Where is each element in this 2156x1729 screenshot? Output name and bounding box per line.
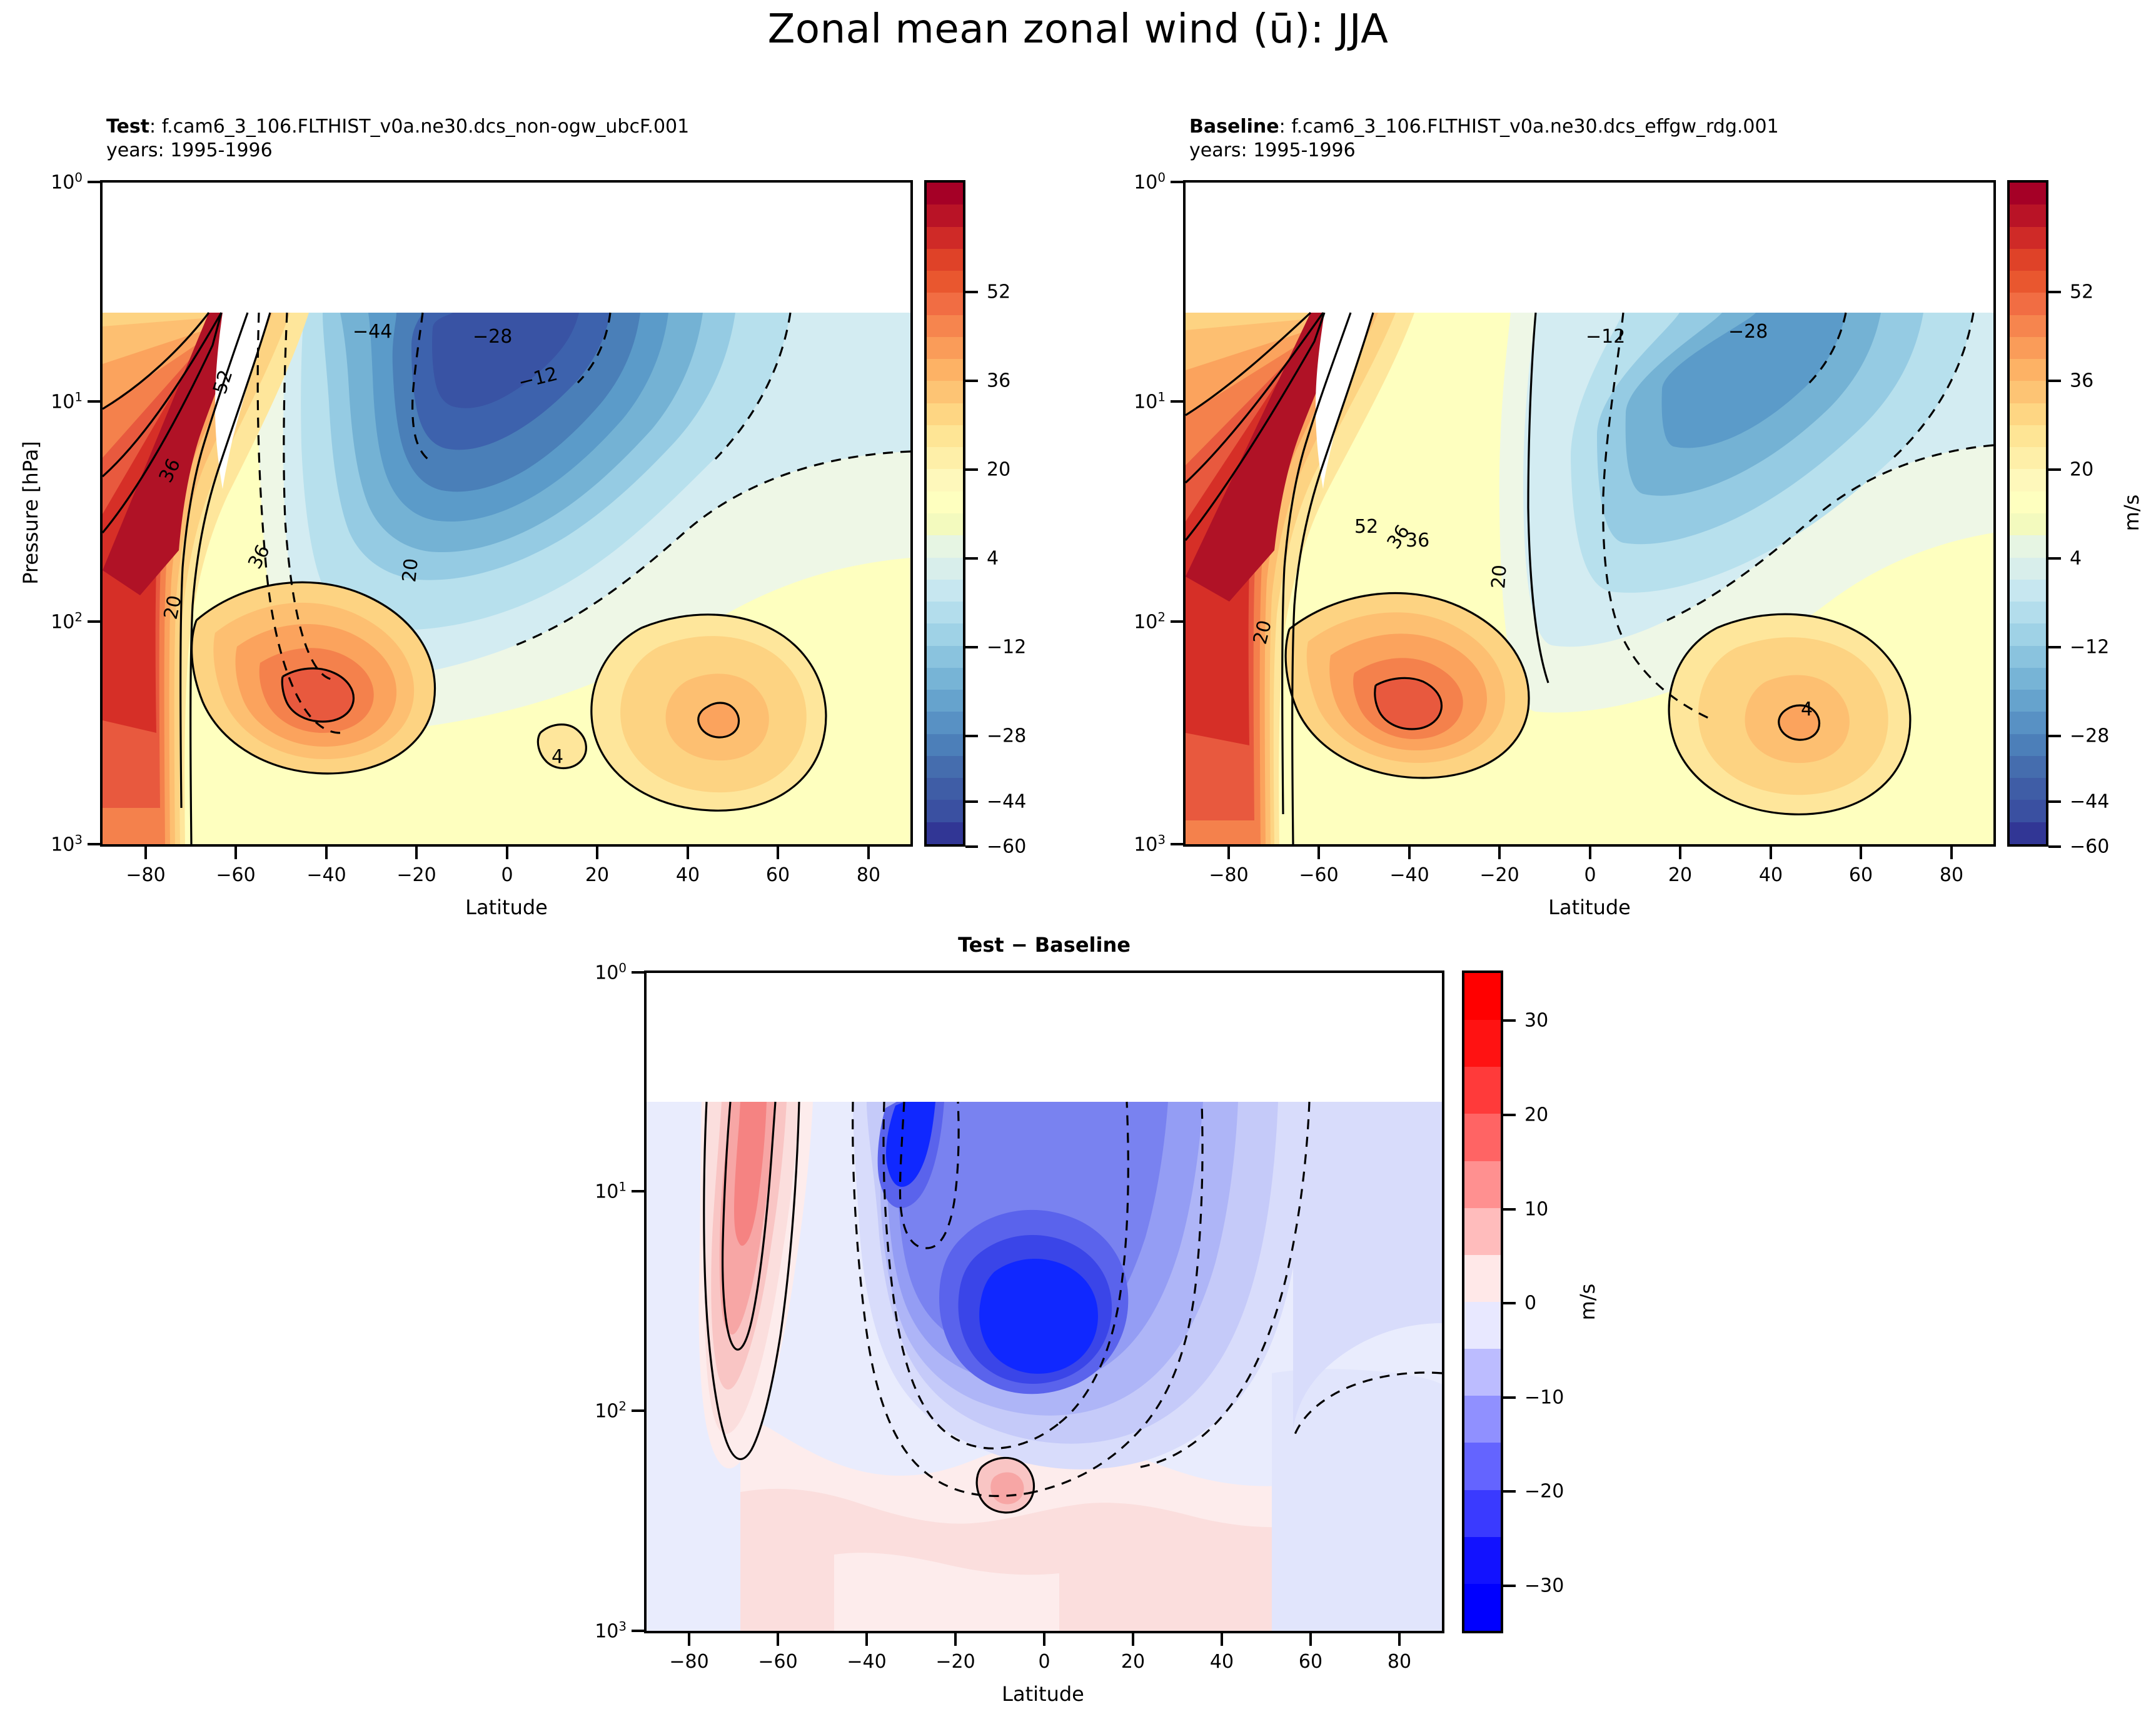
cbtick-m20: [1503, 1490, 1516, 1493]
xtick-label-20: 20: [1668, 864, 1692, 886]
panel-difference-xlabel: Latitude: [1002, 1682, 1084, 1706]
panel-test-colorbar[interactable]: [924, 180, 965, 847]
panel-baseline-colorbar[interactable]: [2007, 180, 2048, 847]
panel-test-title: Test: f.cam6_3_106.FLTHIST_v0a.ne30.dcs_…: [106, 115, 689, 163]
panel-test-case: f.cam6_3_106.FLTHIST_v0a.ne30.dcs_non-og…: [162, 116, 690, 138]
xtick-0: [506, 847, 508, 859]
panel-baseline-role: Baseline: [1189, 116, 1279, 138]
ytick-label-100: 102: [567, 1399, 627, 1423]
ytick-label-1: 100: [1106, 171, 1166, 194]
cblabel-m28: −28: [987, 725, 1026, 747]
xtick-20: [1132, 1633, 1134, 1646]
xtick-80: [1398, 1633, 1401, 1646]
cbtick-m60: [965, 845, 978, 848]
xtick-m80: [688, 1633, 690, 1646]
xtick-m60: [777, 1633, 779, 1646]
xtick-60: [1860, 847, 1862, 859]
xtick-m80: [144, 847, 147, 859]
panel-difference-cbar-label: m/s: [1576, 1284, 1599, 1321]
cbtick-m44: [965, 800, 978, 803]
xtick-label-40: 40: [1210, 1651, 1234, 1673]
xtick-40: [687, 847, 689, 859]
xtick-label-m80: −80: [126, 864, 165, 886]
cbtick-20: [1503, 1114, 1516, 1116]
cblabel-m60: −60: [987, 836, 1026, 858]
xtick-label-m40: −40: [1389, 864, 1429, 886]
panel-baseline-years: years: 1995-1996: [1189, 139, 1779, 163]
panel-baseline-sep: :: [1279, 116, 1286, 138]
contour-label-m44: −44: [353, 321, 392, 343]
cblabel-30: 30: [1524, 1010, 1548, 1032]
cblabel-20: 20: [1524, 1104, 1548, 1126]
xtick-label-m60: −60: [216, 864, 255, 886]
cblabel-20: 20: [987, 459, 1010, 481]
panel-test-sep: :: [149, 116, 156, 138]
xtick-label-60: 60: [1299, 1651, 1322, 1673]
cbtick-4: [965, 557, 978, 560]
ytick-1: [632, 971, 645, 974]
cblabel-m60: −60: [2070, 836, 2109, 858]
xtick-60: [1309, 1633, 1312, 1646]
cblabel-m10: −10: [1524, 1387, 1564, 1409]
ytick-10: [1171, 400, 1184, 403]
cblabel-m30: −30: [1524, 1575, 1564, 1597]
xtick-m20: [954, 1633, 957, 1646]
ytick-label-10: 101: [1106, 390, 1166, 413]
cbtick-10: [1503, 1208, 1516, 1211]
ytick-label-100: 102: [23, 610, 83, 633]
panel-baseline-case: f.cam6_3_106.FLTHIST_v0a.ne30.dcs_effgw_…: [1291, 116, 1778, 138]
ytick-label-100: 102: [1106, 610, 1166, 633]
xtick-label-80: 80: [1388, 1651, 1411, 1673]
panel-difference-colorbar[interactable]: [1462, 970, 1503, 1633]
ytick-1: [88, 181, 101, 183]
panel-test-ylabel: Pressure [hPa]: [19, 441, 43, 585]
xtick-label-40: 40: [1759, 864, 1783, 886]
cbtick-m12: [2048, 646, 2061, 648]
xtick-20: [596, 847, 598, 859]
xtick-m20: [1498, 847, 1501, 859]
xtick-label-60: 60: [1849, 864, 1873, 886]
xtick-0: [1589, 847, 1591, 859]
ytick-label-1: 100: [567, 961, 627, 984]
ytick-label-10: 101: [567, 1180, 627, 1203]
cblabel-4: 4: [987, 548, 999, 570]
xtick-label-60: 60: [766, 864, 790, 886]
cblabel-36: 36: [987, 370, 1010, 392]
xtick-40: [1221, 1633, 1223, 1646]
figure-suptitle: Zonal mean zonal wind (ū): JJA: [0, 6, 2156, 53]
cbtick-52: [2048, 291, 2061, 293]
contour-label-m12: −12: [1586, 326, 1625, 348]
ytick-100: [632, 1409, 645, 1412]
ytick-1000: [88, 843, 101, 845]
cbtick-36: [965, 380, 978, 382]
cbtick-m60: [2048, 845, 2061, 848]
cbtick-m30: [1503, 1585, 1516, 1587]
cblabel-m28: −28: [2070, 725, 2109, 747]
xtick-label-80: 80: [857, 864, 880, 886]
cblabel-52: 52: [987, 281, 1010, 303]
xtick-m60: [1317, 847, 1320, 859]
contour-label-52: 52: [1354, 516, 1378, 538]
contour-label-m28: −28: [473, 326, 512, 348]
panel-test-role: Test: [106, 116, 149, 138]
cblabel-36: 36: [2070, 370, 2093, 392]
panel-difference-axes[interactable]: [644, 970, 1444, 1633]
contour-label-m28: −28: [1728, 321, 1768, 343]
ytick-label-1: 100: [23, 171, 83, 194]
xtick-label-80: 80: [1940, 864, 1963, 886]
cbtick-m44: [2048, 800, 2061, 803]
contour-label-20b: 20: [398, 557, 423, 583]
xtick-20: [1679, 847, 1681, 859]
panel-test-xlabel: Latitude: [465, 895, 548, 919]
xtick-80: [867, 847, 870, 859]
cbtick-0: [1503, 1302, 1516, 1304]
xtick-label-0: 0: [1038, 1651, 1050, 1673]
panel-test-axes[interactable]: 52 36 20 36 20 4 −44 −28 −12: [100, 180, 913, 847]
xtick-label-0: 0: [1584, 864, 1596, 886]
xtick-label-m60: −60: [1299, 864, 1338, 886]
xtick-label-m20: −20: [396, 864, 436, 886]
xtick-label-40: 40: [676, 864, 700, 886]
cblabel-m12: −12: [987, 637, 1026, 658]
panel-baseline-cbar-label: m/s: [2120, 495, 2143, 532]
panel-baseline-axes[interactable]: 52 36 20 36 20 4 −12 −28: [1183, 180, 1996, 847]
contour-label-4: 4: [552, 746, 563, 768]
xtick-m40: [325, 847, 328, 859]
cblabel-m44: −44: [987, 791, 1026, 813]
contour-label-20b: 20: [1488, 564, 1511, 590]
ytick-label-10: 101: [23, 390, 83, 413]
panel-test-contour-plot: 52 36 20 36 20 4 −44 −28 −12: [103, 183, 910, 844]
cbtick-m10: [1503, 1396, 1516, 1399]
xtick-m60: [234, 847, 237, 859]
cbtick-20: [965, 468, 978, 471]
cblabel-52: 52: [2070, 281, 2093, 303]
ytick-1000: [1171, 843, 1184, 845]
cblabel-20: 20: [2070, 459, 2093, 481]
xtick-label-m40: −40: [847, 1651, 886, 1673]
cblabel-10: 10: [1524, 1199, 1548, 1221]
cbtick-30: [1503, 1019, 1516, 1022]
cbtick-4: [2048, 557, 2061, 560]
xtick-label-m20: −20: [935, 1651, 975, 1673]
cblabel-m12: −12: [2070, 637, 2109, 658]
xtick-40: [1770, 847, 1772, 859]
cbtick-m28: [965, 735, 978, 737]
ytick-label-1000: 103: [23, 833, 83, 856]
panel-baseline-xlabel: Latitude: [1548, 895, 1631, 919]
xtick-80: [1950, 847, 1953, 859]
xtick-60: [777, 847, 779, 859]
cblabel-m44: −44: [2070, 791, 2109, 813]
xtick-m20: [415, 847, 418, 859]
xtick-label-0: 0: [501, 864, 513, 886]
xtick-label-20: 20: [1121, 1651, 1145, 1673]
cbtick-m28: [2048, 735, 2061, 737]
cbtick-52: [965, 291, 978, 293]
xtick-0: [1043, 1633, 1045, 1646]
ytick-1000: [632, 1630, 645, 1632]
xtick-m80: [1227, 847, 1230, 859]
contour-label-4: 4: [1801, 698, 1813, 720]
panel-baseline-title: Baseline: f.cam6_3_106.FLTHIST_v0a.ne30.…: [1189, 115, 1779, 163]
cbtick-36: [2048, 380, 2061, 382]
cbtick-m12: [965, 646, 978, 648]
ytick-label-1000: 103: [567, 1620, 627, 1643]
ytick-10: [88, 400, 101, 403]
xtick-label-m80: −80: [1209, 864, 1248, 886]
panel-test-years: years: 1995-1996: [106, 139, 689, 163]
cblabel-4: 4: [2070, 548, 2082, 570]
cblabel-0: 0: [1524, 1293, 1536, 1314]
panel-difference-title: Test − Baseline: [650, 933, 1438, 957]
xtick-label-m60: −60: [758, 1651, 797, 1673]
xtick-label-m80: −80: [669, 1651, 708, 1673]
xtick-label-20: 20: [585, 864, 609, 886]
panel-baseline-contour-plot: 52 36 20 36 20 4 −12 −28: [1186, 183, 1993, 844]
xtick-m40: [1408, 847, 1411, 859]
xtick-label-m40: −40: [306, 864, 346, 886]
panel-difference-contour-plot: [647, 973, 1442, 1631]
ytick-label-1000: 103: [1106, 833, 1166, 856]
cblabel-m20: −20: [1524, 1481, 1564, 1503]
xtick-m40: [865, 1633, 868, 1646]
ytick-10: [632, 1190, 645, 1192]
ytick-1: [1171, 181, 1184, 183]
ytick-100: [88, 620, 101, 623]
ytick-100: [1171, 620, 1184, 623]
xtick-label-m20: −20: [1479, 864, 1519, 886]
cbtick-20: [2048, 468, 2061, 471]
